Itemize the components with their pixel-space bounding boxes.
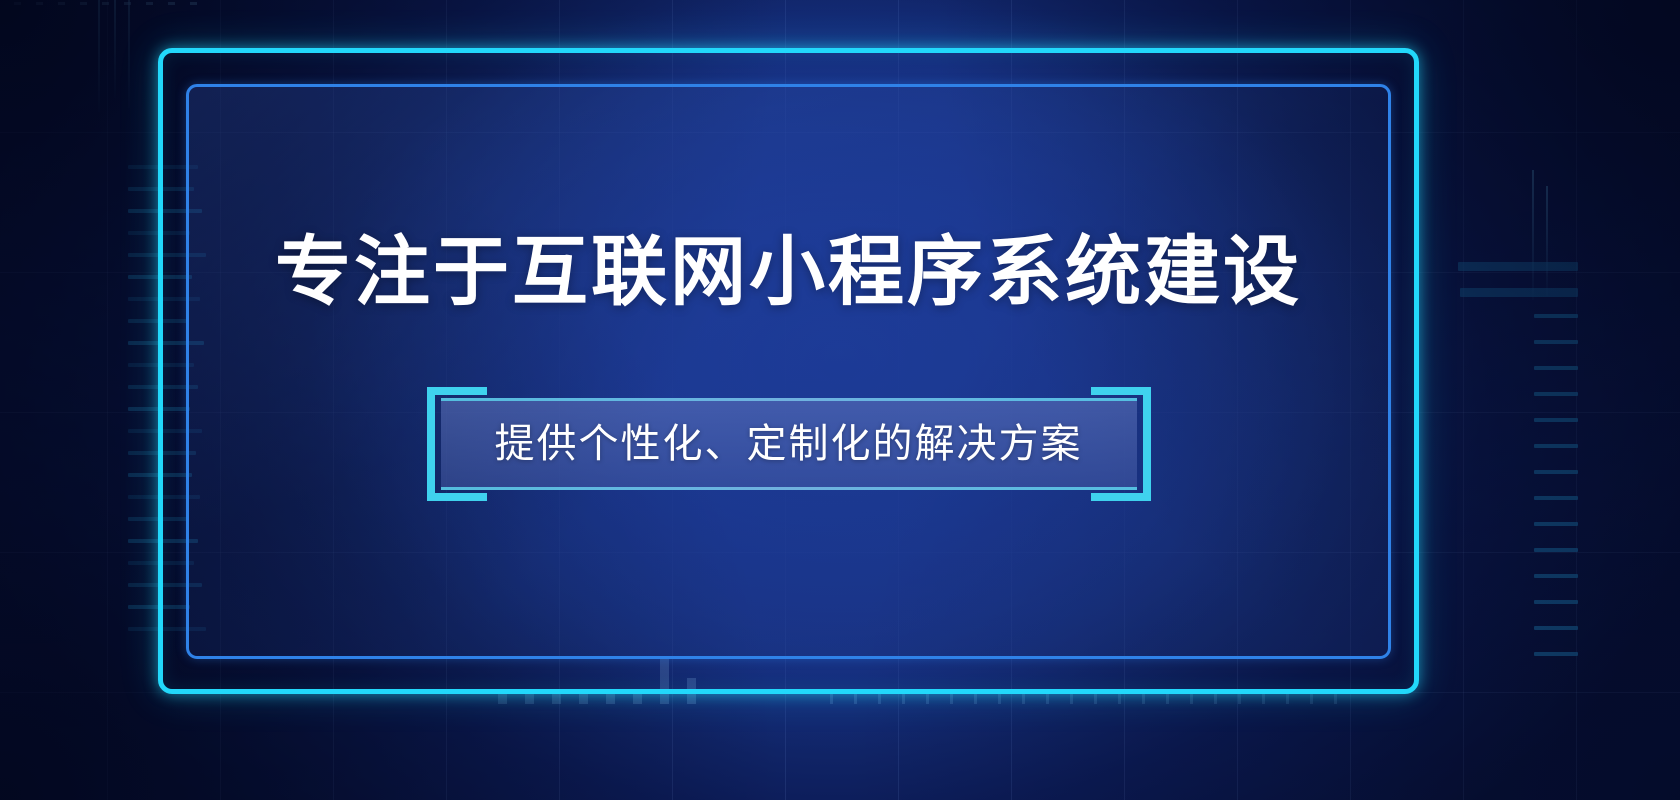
corner-bracket-bottom-left-icon bbox=[427, 441, 487, 501]
hairline-decor bbox=[128, 0, 130, 108]
subtitle-plate: 提供个性化、定制化的解决方案 bbox=[441, 401, 1137, 487]
plate-top-edge bbox=[441, 398, 1137, 401]
right-tick-ladder bbox=[1458, 262, 1578, 762]
corner-bracket-top-left-icon bbox=[427, 387, 487, 447]
banner-subtitle: 提供个性化、定制化的解决方案 bbox=[495, 419, 1083, 469]
banner-content: 专注于互联网小程序系统建设 提供个性化、定制化的解决方案 bbox=[186, 84, 1391, 659]
hairline-decor bbox=[1532, 170, 1534, 300]
bottom-dash-strip bbox=[830, 693, 1337, 704]
corner-bracket-bottom-right-icon bbox=[1091, 441, 1151, 501]
hairline-decor bbox=[114, 0, 116, 98]
top-dot-strip bbox=[14, 2, 197, 5]
corner-bracket-top-right-icon bbox=[1091, 387, 1151, 447]
hairline-decor bbox=[98, 0, 100, 112]
plate-bottom-edge bbox=[441, 487, 1137, 490]
banner-headline: 专注于互联网小程序系统建设 bbox=[275, 235, 1302, 311]
hairline-decor bbox=[1546, 186, 1548, 296]
hero-banner: 专注于互联网小程序系统建设 提供个性化、定制化的解决方案 bbox=[0, 0, 1680, 800]
mini-bar-chart-decor bbox=[498, 658, 696, 704]
